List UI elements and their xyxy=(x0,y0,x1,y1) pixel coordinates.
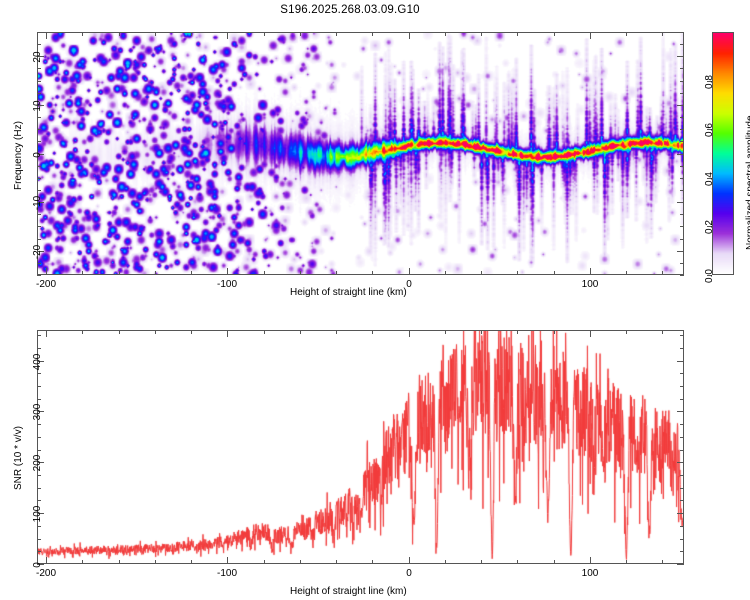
axis-tick xyxy=(155,32,156,36)
axis-tick xyxy=(680,475,684,476)
axis-tick xyxy=(590,330,591,337)
axis-tick xyxy=(481,560,482,564)
axis-tick xyxy=(680,93,684,94)
axis-tick xyxy=(119,330,120,334)
axis-tick xyxy=(677,56,684,57)
axis-tick xyxy=(680,373,684,374)
axis-tick xyxy=(191,330,192,334)
axis-tick xyxy=(227,557,228,564)
axis-tick xyxy=(37,373,41,374)
axis-tick xyxy=(37,117,41,118)
axis-tick xyxy=(37,93,41,94)
axis-tick xyxy=(37,190,41,191)
axis-tick xyxy=(517,560,518,564)
axis-tick xyxy=(155,271,156,275)
axis-tick xyxy=(677,411,684,412)
axis-tick-label: 400 xyxy=(32,354,43,371)
axis-tick xyxy=(264,560,265,564)
axis-tick xyxy=(680,539,684,540)
axis-tick xyxy=(680,214,684,215)
axis-tick xyxy=(677,105,684,106)
axis-tick xyxy=(680,526,684,527)
snr-trace xyxy=(38,331,683,563)
axis-tick xyxy=(409,330,410,337)
axis-tick xyxy=(82,560,83,564)
axis-tick xyxy=(626,271,627,275)
axis-tick xyxy=(680,32,684,33)
axis-tick xyxy=(37,551,41,552)
axis-tick xyxy=(37,500,41,501)
axis-tick-label: 10 xyxy=(32,100,43,111)
axis-tick xyxy=(155,560,156,564)
axis-tick xyxy=(680,166,684,167)
axis-tick xyxy=(300,32,301,36)
axis-tick xyxy=(46,32,47,39)
axis-tick xyxy=(680,239,684,240)
axis-tick xyxy=(517,271,518,275)
axis-tick-label: -200 xyxy=(36,279,56,290)
axis-tick xyxy=(46,330,47,337)
axis-tick xyxy=(554,271,555,275)
axis-tick xyxy=(37,226,41,227)
axis-tick xyxy=(227,268,228,275)
axis-tick-label: 100 xyxy=(582,279,599,290)
axis-tick xyxy=(677,513,684,514)
axis-tick xyxy=(680,424,684,425)
axis-tick xyxy=(82,330,83,334)
axis-tick xyxy=(300,560,301,564)
axis-tick xyxy=(680,117,684,118)
axis-tick xyxy=(37,348,41,349)
axis-tick xyxy=(37,44,41,45)
axis-tick xyxy=(554,330,555,334)
axis-tick xyxy=(227,32,228,39)
axis-tick xyxy=(517,32,518,36)
axis-tick xyxy=(626,32,627,36)
colorbar-gradient xyxy=(713,33,733,274)
axis-tick xyxy=(677,251,684,252)
axis-tick xyxy=(372,271,373,275)
axis-tick xyxy=(37,539,41,540)
axis-tick xyxy=(445,330,446,334)
axis-tick xyxy=(336,32,337,36)
spectrogram-ylabel: Frequency (Hz) xyxy=(13,121,24,190)
axis-tick xyxy=(37,214,41,215)
axis-tick xyxy=(554,560,555,564)
axis-tick xyxy=(37,178,41,179)
axis-tick xyxy=(37,437,41,438)
colorbar-tick-label: 0.2 xyxy=(704,220,715,234)
axis-tick-label: 0 xyxy=(32,562,43,568)
colorbar-frame xyxy=(712,32,734,275)
axis-tick xyxy=(37,475,41,476)
spectrogram-xlabel: Height of straight line (km) xyxy=(290,287,407,298)
axis-tick-label: 100 xyxy=(32,506,43,523)
figure-title: S196.2025.268.03.09.G10 xyxy=(0,4,700,16)
axis-tick xyxy=(119,271,120,275)
axis-tick xyxy=(590,557,591,564)
axis-tick xyxy=(680,263,684,264)
axis-tick-label: 0 xyxy=(32,152,43,158)
axis-tick-label: 0 xyxy=(406,568,412,579)
axis-tick xyxy=(37,129,41,130)
axis-tick-label: -200 xyxy=(36,568,56,579)
axis-tick xyxy=(37,275,41,276)
axis-tick xyxy=(677,202,684,203)
axis-tick xyxy=(626,330,627,334)
colorbar-tick-label: 0.6 xyxy=(704,123,715,137)
axis-tick xyxy=(481,271,482,275)
axis-tick xyxy=(626,560,627,564)
axis-tick xyxy=(264,271,265,275)
axis-tick xyxy=(680,450,684,451)
axis-tick xyxy=(680,68,684,69)
axis-tick xyxy=(680,81,684,82)
axis-tick xyxy=(336,560,337,564)
axis-tick xyxy=(517,330,518,334)
axis-tick xyxy=(119,560,120,564)
axis-tick xyxy=(37,32,41,33)
spectrogram-panel xyxy=(37,32,684,275)
axis-tick xyxy=(37,424,41,425)
axis-tick xyxy=(372,32,373,36)
axis-tick xyxy=(37,68,41,69)
axis-tick xyxy=(680,437,684,438)
axis-tick xyxy=(191,560,192,564)
axis-tick xyxy=(680,141,684,142)
axis-tick xyxy=(680,500,684,501)
axis-tick xyxy=(336,271,337,275)
axis-tick xyxy=(82,271,83,275)
axis-tick xyxy=(445,32,446,36)
axis-tick xyxy=(37,488,41,489)
axis-tick xyxy=(409,557,410,564)
spectrogram-image xyxy=(38,33,683,274)
axis-tick xyxy=(590,268,591,275)
axis-tick xyxy=(37,81,41,82)
axis-tick xyxy=(680,386,684,387)
axis-tick xyxy=(409,268,410,275)
axis-tick xyxy=(481,32,482,36)
axis-tick xyxy=(191,271,192,275)
axis-tick xyxy=(372,330,373,334)
axis-tick xyxy=(554,32,555,36)
axis-tick xyxy=(37,166,41,167)
axis-tick-label: 0 xyxy=(406,279,412,290)
axis-tick xyxy=(662,271,663,275)
axis-tick xyxy=(37,335,41,336)
axis-tick xyxy=(191,32,192,36)
axis-tick xyxy=(37,141,41,142)
axis-tick-label: -100 xyxy=(217,568,237,579)
axis-tick xyxy=(119,32,120,36)
colorbar-tick-label: 0.0 xyxy=(704,269,715,283)
snr-ylabel: SNR (10 * v/v) xyxy=(13,426,24,490)
axis-tick xyxy=(680,275,684,276)
axis-tick xyxy=(227,330,228,337)
axis-tick xyxy=(37,526,41,527)
axis-tick xyxy=(590,32,591,39)
axis-tick-label: -100 xyxy=(217,279,237,290)
axis-tick xyxy=(445,560,446,564)
axis-tick xyxy=(264,32,265,36)
axis-tick xyxy=(662,330,663,334)
axis-tick xyxy=(680,178,684,179)
axis-tick-label: -20 xyxy=(32,245,43,259)
axis-tick xyxy=(300,271,301,275)
axis-tick xyxy=(677,462,684,463)
axis-tick xyxy=(662,560,663,564)
axis-tick xyxy=(677,361,684,362)
axis-tick xyxy=(680,348,684,349)
axis-tick xyxy=(662,32,663,36)
axis-tick xyxy=(336,330,337,334)
axis-tick xyxy=(37,450,41,451)
axis-tick xyxy=(680,129,684,130)
axis-tick xyxy=(680,551,684,552)
axis-tick xyxy=(37,263,41,264)
axis-tick xyxy=(46,557,47,564)
colorbar-label: Normalized spectral amplitude xyxy=(745,115,750,250)
snr-xlabel: Height of straight line (km) xyxy=(290,586,407,597)
axis-tick xyxy=(37,386,41,387)
axis-tick xyxy=(677,154,684,155)
axis-tick xyxy=(680,190,684,191)
axis-tick xyxy=(37,399,41,400)
axis-tick xyxy=(680,226,684,227)
axis-tick xyxy=(481,330,482,334)
axis-tick xyxy=(680,335,684,336)
axis-tick xyxy=(155,330,156,334)
axis-tick xyxy=(680,488,684,489)
axis-tick xyxy=(445,271,446,275)
axis-tick xyxy=(677,564,684,565)
axis-tick-label: 20 xyxy=(32,51,43,62)
axis-tick xyxy=(37,239,41,240)
axis-tick xyxy=(46,268,47,275)
axis-tick xyxy=(300,330,301,334)
axis-tick-label: -10 xyxy=(32,196,43,210)
axis-tick-label: 200 xyxy=(32,455,43,472)
axis-tick xyxy=(82,32,83,36)
colorbar-tick-label: 0.8 xyxy=(704,75,715,89)
axis-tick xyxy=(264,330,265,334)
axis-tick xyxy=(680,44,684,45)
axis-tick xyxy=(680,399,684,400)
figure-root: S196.2025.268.03.09.G10 -200-1000100-20-… xyxy=(0,0,750,600)
axis-tick-label: 100 xyxy=(582,568,599,579)
colorbar-tick-label: 0.4 xyxy=(704,172,715,186)
snr-panel xyxy=(37,330,684,564)
axis-tick-label: 300 xyxy=(32,404,43,421)
axis-tick xyxy=(372,560,373,564)
axis-tick xyxy=(409,32,410,39)
